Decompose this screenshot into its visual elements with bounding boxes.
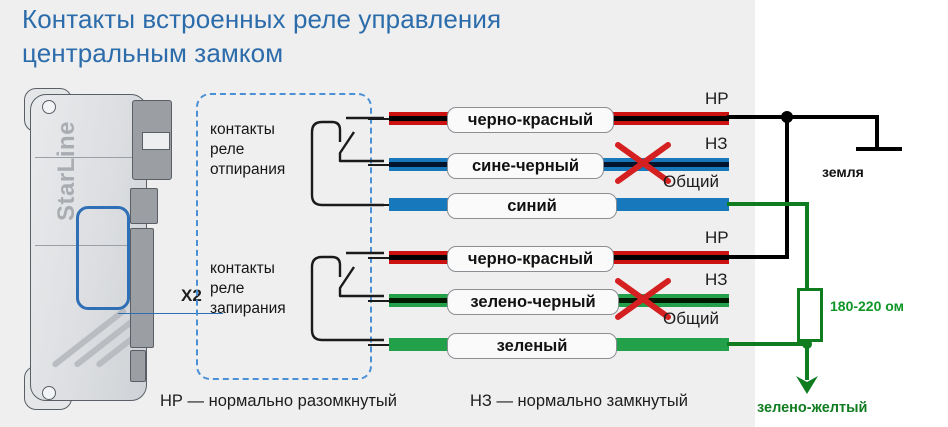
relay-caption-lock-l1: контакты: [210, 259, 286, 279]
device-connector-middle: [130, 228, 154, 348]
device-screw-hole-bottom: [42, 386, 56, 400]
wire-lead-4: [368, 257, 390, 259]
wire-terminal-5: НЗ: [705, 270, 728, 290]
wire-terminal-1: НР: [705, 89, 729, 109]
ground-lead-horizontal: [797, 115, 877, 119]
wire-label-3: синий: [447, 193, 617, 219]
ground-wire-label: зелено-желтый: [757, 400, 867, 416]
wire-label-6: зеленый: [447, 333, 617, 359]
ground-lead-vertical: [875, 115, 879, 149]
wire-lead-3: [368, 204, 390, 206]
junction-node-black: [781, 111, 793, 123]
relay-caption-lock-l2: реле: [210, 279, 286, 299]
relay-caption-unlock-l2: реле: [210, 140, 285, 160]
x2-highlight-box: [76, 206, 130, 310]
relay-caption-lock: контакты реле запирания: [210, 259, 286, 319]
legend-nz: НЗ — нормально замкнутый: [470, 392, 688, 411]
relay-caption-unlock-l1: контакты: [210, 120, 285, 140]
wire-label-1: черно-красный: [447, 107, 614, 133]
earth-label: земля: [822, 164, 864, 180]
relay-caption-unlock-l3: отпирания: [210, 160, 285, 180]
wire-terminal-3: Общий: [663, 172, 719, 192]
wire-terminal-6: Общий: [663, 309, 719, 329]
device-connector-bottom: [130, 350, 146, 382]
device-contour-line-1: [35, 157, 139, 158]
diagram-root: Контакты встроенных реле управления цент…: [0, 0, 948, 427]
relay-caption-unlock: контакты реле отпирания: [210, 120, 285, 180]
green-wire-vertical-top: [805, 202, 809, 290]
legend-nr: НР — нормально разомкнутый: [160, 392, 397, 411]
black-wire-vertical: [785, 115, 789, 259]
device-connector-x2: [130, 188, 158, 224]
ground-symbol-bar: [856, 147, 902, 151]
resistor-value-label: 180-220 ом: [830, 298, 904, 314]
device-connector-window: [142, 132, 170, 150]
starline-device: StarLine X2: [18, 88, 198, 408]
device-screw-hole-top: [42, 100, 56, 114]
green-wire-from-green: [727, 342, 809, 346]
wire-lead-2: [368, 164, 390, 166]
wire-lead-5: [368, 300, 390, 302]
wire-lead-1: [368, 118, 390, 120]
wire-label-4: черно-красный: [447, 246, 614, 272]
black-wire-bottom-horizontal: [727, 255, 789, 259]
wire-label-2: сине-черный: [447, 153, 604, 179]
page-title: Контакты встроенных реле управления цент…: [22, 2, 642, 70]
wire-terminal-2: НЗ: [705, 134, 728, 154]
resistor-symbol: [797, 288, 823, 342]
green-arrow-head-icon: [793, 372, 821, 396]
green-wire-from-blue: [727, 202, 809, 206]
relay-switch-symbol-unlock: [306, 106, 398, 214]
wire-terminal-4: НР: [705, 228, 729, 248]
relay-caption-lock-l3: запирания: [210, 299, 286, 319]
wire-label-5: зелено-черный: [447, 289, 619, 315]
wire-lead-6: [368, 344, 390, 346]
